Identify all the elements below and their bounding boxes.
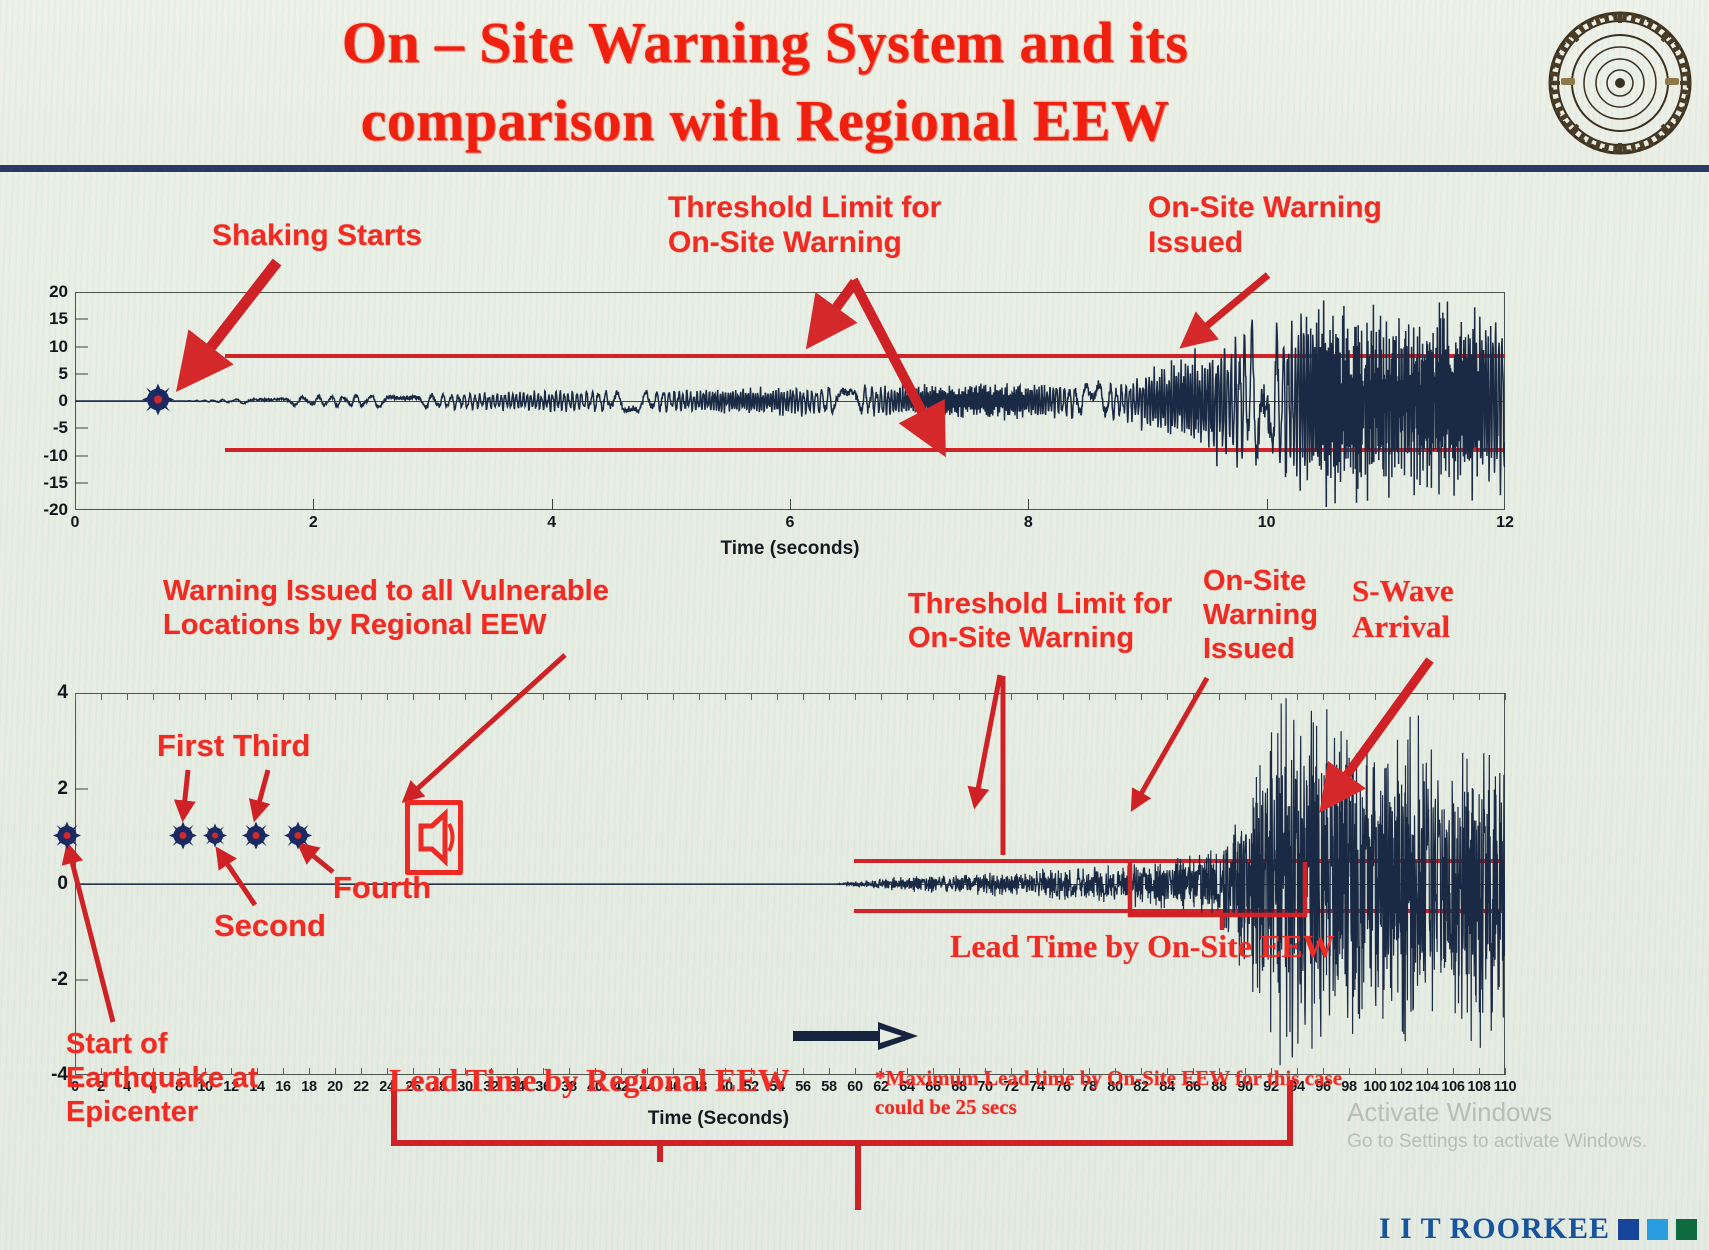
station-marker-first (169, 822, 197, 855)
bottom-xtick-label-102: 102 (1389, 1079, 1412, 1095)
top-ytick-label-5: 5 (59, 364, 68, 384)
bottom-xtick-label-16: 16 (275, 1079, 291, 1095)
top-ytick-label-10: 10 (49, 337, 68, 357)
anno-shaking-starts: Shaking Starts (212, 218, 422, 253)
top-ytick-label-m20: -20 (43, 500, 68, 520)
bottom-ytick-label-0: 0 (57, 873, 68, 895)
anno-bottom-threshold-limit: Threshold Limit for On-Site Warning (908, 588, 1172, 656)
bottom-xtick-label-58: 58 (821, 1079, 837, 1095)
page-title: On – Site Warning System and its compari… (150, 4, 1380, 160)
slide-canvas: On – Site Warning System and its compari… (0, 0, 1709, 1250)
bottom-xtick-label-18: 18 (301, 1079, 317, 1095)
bottom-ytick-label-m2: -2 (51, 969, 68, 991)
station-marker-fourth (284, 822, 312, 855)
top-xtick-label-6: 6 (786, 514, 795, 532)
title-line-1: On – Site Warning System and its (150, 4, 1380, 82)
brand-square-green (1676, 1219, 1697, 1240)
top-chart-xaxis-caption: Time (seconds) (720, 538, 859, 560)
bottom-xtick-label-56: 56 (795, 1079, 811, 1095)
anno-first: First (157, 728, 224, 764)
brand-text: I I T ROORKEE (1379, 1212, 1610, 1246)
top-ytick-label-m15: -15 (43, 473, 68, 493)
top-ytick-label-0: 0 (59, 391, 68, 411)
anno-lead-time-regional: Lead Time by Regional EEW (389, 1062, 790, 1099)
top-ytick-label-15: 15 (49, 309, 68, 329)
top-xtick-label-4: 4 (547, 514, 556, 532)
anno-top-warning-issued: On-Site Warning Issued (1148, 190, 1382, 260)
shaking-start-marker (142, 384, 174, 421)
brand-square-light-blue (1647, 1219, 1668, 1240)
epicenter-marker (53, 822, 81, 855)
bottom-xtick-label-22: 22 (353, 1079, 369, 1095)
footnote-line-1: *Maximum Lead time by On-Site EEW for th… (875, 1063, 1342, 1095)
bottom-xtick-label-108: 108 (1467, 1079, 1490, 1095)
top-xtick-label-0: 0 (71, 514, 80, 532)
top-xtick-label-2: 2 (309, 514, 318, 532)
top-xtick-label-8: 8 (1024, 514, 1033, 532)
top-xtick-label-10: 10 (1258, 514, 1276, 532)
bottom-xtick-label-98: 98 (1341, 1079, 1357, 1095)
watermark-line-2: Go to Settings to activate Windows. (1347, 1130, 1647, 1154)
anno-fourth: Fourth (333, 870, 431, 906)
top-seismogram-chart: 20 15 10 5 0 -5 -10 -15 -20 0 2 4 6 8 10… (75, 292, 1505, 510)
anno-lead-time-onsite: Lead Time by On-Site EEW (950, 928, 1335, 965)
station-marker-third (242, 822, 270, 855)
bottom-xtick-label-20: 20 (327, 1079, 343, 1095)
watermark-line-1: Activate Windows (1347, 1096, 1647, 1129)
anno-second: Second (214, 908, 326, 944)
top-ytick-label-m5: -5 (53, 418, 68, 438)
footnote-line-2: could be 25 secs (875, 1095, 1017, 1120)
anno-third: Third (233, 728, 311, 764)
iit-roorkee-footer-brand: I I T ROORKEE (1379, 1212, 1697, 1246)
iit-roorkee-seal-icon (1545, 8, 1695, 158)
regional-eew-broadcast-icon (405, 800, 463, 880)
brand-square-dark-blue (1618, 1219, 1639, 1240)
bottom-xtick-label-104: 104 (1415, 1079, 1438, 1095)
bottom-ytick-label-4: 4 (57, 682, 68, 704)
bottom-xtick-label-100: 100 (1363, 1079, 1386, 1095)
bottom-ytick-label-2: 2 (57, 778, 68, 800)
title-line-2: comparison with Regional EEW (150, 82, 1380, 160)
anno-bottom-warning-issued: On-Site Warning Issued (1203, 565, 1318, 667)
bottom-chart-xaxis-caption: Time (Seconds) (648, 1108, 789, 1130)
bottom-xtick-mark-top (1505, 693, 1506, 700)
slide-header: On – Site Warning System and its compari… (0, 0, 1709, 172)
anno-regional-warning: Warning Issued to all Vulnerable Locatio… (163, 575, 609, 643)
station-marker-second (203, 824, 227, 853)
bottom-xtick-label-60: 60 (847, 1079, 863, 1095)
bottom-xtick-label-106: 106 (1441, 1079, 1464, 1095)
top-ytick-label-m10: -10 (43, 446, 68, 466)
windows-activation-watermark: Activate Windows Go to Settings to activ… (1347, 1096, 1647, 1154)
top-xtick-label-12: 12 (1496, 514, 1514, 532)
bottom-xtick-mark (1505, 1068, 1506, 1075)
top-waveform-trace (75, 292, 1505, 510)
anno-start-of-earthquake: Start of Earthquake at Epicenter (66, 1028, 258, 1130)
anno-s-wave-arrival: S-Wave Arrival (1352, 573, 1454, 646)
top-ytick-label-20: 20 (49, 282, 68, 302)
anno-top-threshold-limit: Threshold Limit for On-Site Warning (668, 190, 941, 260)
bottom-xtick-label-110: 110 (1494, 1079, 1517, 1095)
